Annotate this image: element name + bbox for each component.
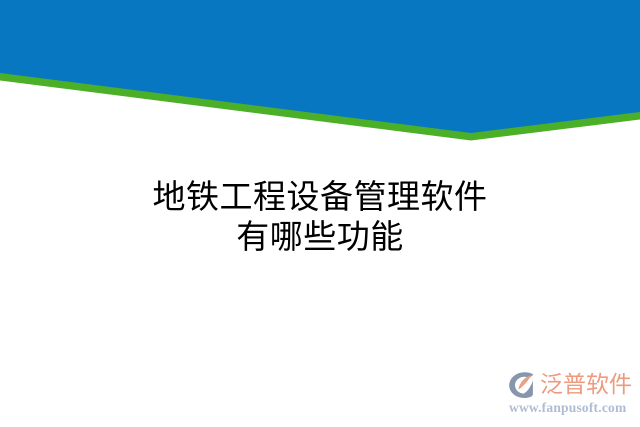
fanpu-crescent-logo-icon [508,371,538,399]
banner-green-band [0,0,640,141]
page-title-line-1: 地铁工程设备管理软件 [0,178,640,218]
banner-blue-shape [0,0,640,133]
brand-logo-row: 泛普软件 [508,370,632,400]
slide-canvas: 地铁工程设备管理软件 有哪些功能 泛普软件 www.fanpusoft.com [0,0,640,427]
page-title: 地铁工程设备管理软件 有哪些功能 [0,178,640,258]
brand-name: 泛普软件 [540,372,632,398]
page-title-line-2: 有哪些功能 [0,218,640,258]
brand-logo: 泛普软件 www.fanpusoft.com [508,370,636,418]
header-chevron-banner [0,0,640,160]
brand-website: www.fanpusoft.com [509,400,626,416]
